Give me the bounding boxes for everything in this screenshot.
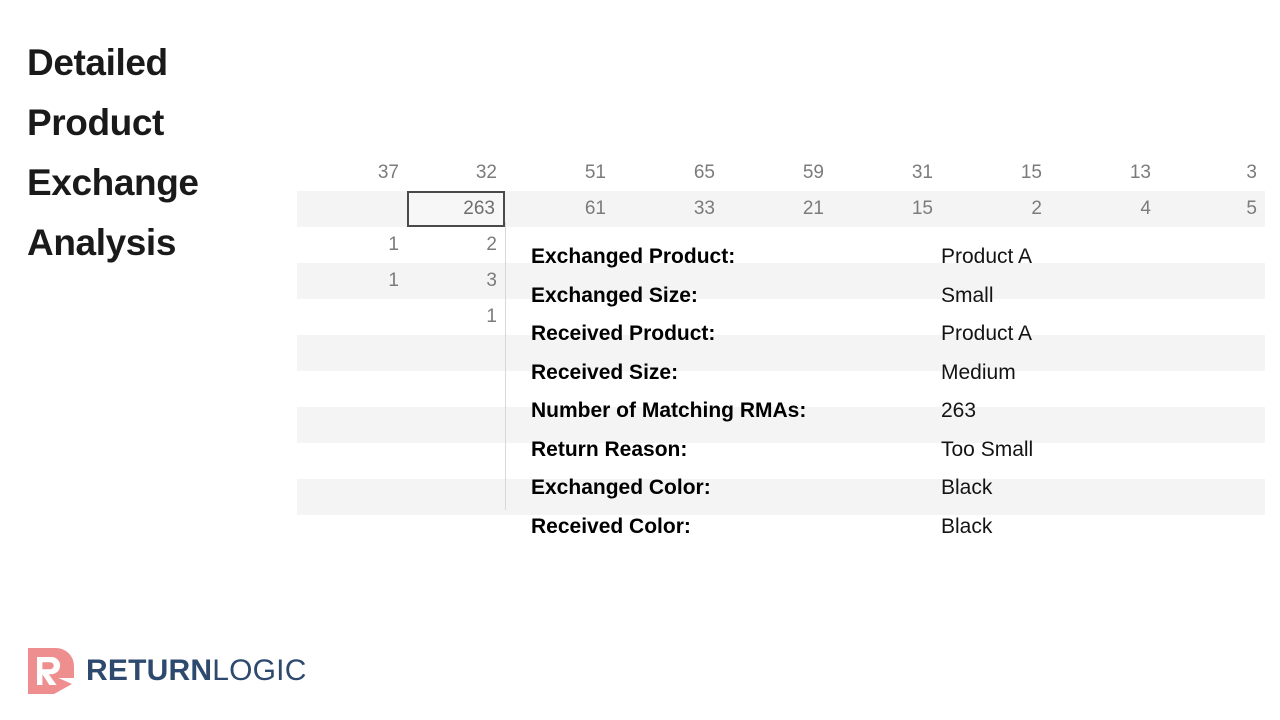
- spreadsheet-cell[interactable]: 1: [407, 299, 505, 335]
- detail-row: Exchanged Size:Small: [531, 277, 1131, 316]
- logo-wordmark-return: RETURN: [86, 654, 212, 687]
- sheet-panel-divider: [505, 222, 506, 510]
- detail-value: Small: [941, 277, 994, 316]
- spreadsheet-row[interactable]: 37325165593115133: [297, 155, 1265, 191]
- logo-wordmark: RETURNLOGIC: [86, 656, 307, 686]
- detail-row: Return Reason:Too Small: [531, 431, 1131, 470]
- spreadsheet-cell[interactable]: 51: [505, 155, 614, 191]
- detail-label: Received Size:: [531, 354, 678, 393]
- detail-label: Exchanged Color:: [531, 469, 711, 508]
- spreadsheet-cell[interactable]: 13: [1050, 155, 1159, 191]
- spreadsheet-cell[interactable]: 2: [407, 227, 505, 263]
- spreadsheet-row[interactable]: 26361332115245: [297, 191, 1265, 227]
- logo-wordmark-logic: LOGIC: [212, 654, 306, 687]
- spreadsheet-cell[interactable]: 32: [407, 155, 505, 191]
- spreadsheet-cell[interactable]: 37: [315, 155, 407, 191]
- spreadsheet-cell[interactable]: 59: [723, 155, 832, 191]
- spreadsheet-cell[interactable]: 65: [614, 155, 723, 191]
- detail-row: Received Product:Product A: [531, 315, 1131, 354]
- detail-row: Exchanged Color:Black: [531, 469, 1131, 508]
- spreadsheet-cell[interactable]: 15: [832, 191, 941, 227]
- page-title: Detailed Product Exchange Analysis: [27, 33, 277, 273]
- detail-value: Medium: [941, 354, 1016, 393]
- detail-value: Product A: [941, 238, 1032, 277]
- returnlogic-r-arrow-icon: [28, 648, 74, 694]
- returnlogic-logo: RETURNLOGIC: [28, 648, 307, 694]
- spreadsheet-cell[interactable]: 3: [1159, 155, 1265, 191]
- spreadsheet-cell[interactable]: 33: [614, 191, 723, 227]
- exchange-detail-panel: Exchanged Product:Product AExchanged Siz…: [531, 238, 1131, 546]
- detail-label: Return Reason:: [531, 431, 687, 470]
- spreadsheet-cell[interactable]: 15: [941, 155, 1050, 191]
- detail-row: Received Size:Medium: [531, 354, 1131, 393]
- spreadsheet-cell[interactable]: 2: [941, 191, 1050, 227]
- detail-row: Exchanged Product:Product A: [531, 238, 1131, 277]
- spreadsheet-cell[interactable]: 31: [832, 155, 941, 191]
- detail-label: Exchanged Size:: [531, 277, 698, 316]
- detail-value: Product A: [941, 315, 1032, 354]
- selected-cell[interactable]: 263: [407, 191, 505, 227]
- spreadsheet-cell[interactable]: 1: [315, 263, 407, 299]
- detail-label: Received Color:: [531, 508, 691, 547]
- spreadsheet-cell[interactable]: 61: [505, 191, 614, 227]
- spreadsheet-cell[interactable]: 3: [407, 263, 505, 299]
- spreadsheet-cell[interactable]: 21: [723, 191, 832, 227]
- detail-label: Number of Matching RMAs:: [531, 392, 806, 431]
- spreadsheet-cell[interactable]: 5: [1159, 191, 1265, 227]
- detail-value: Black: [941, 469, 992, 508]
- detail-row: Number of Matching RMAs:263: [531, 392, 1131, 431]
- detail-value: 263: [941, 392, 976, 431]
- detail-value: Too Small: [941, 431, 1033, 470]
- spreadsheet-cell[interactable]: 4: [1050, 191, 1159, 227]
- detail-label: Received Product:: [531, 315, 715, 354]
- detail-value: Black: [941, 508, 992, 547]
- detail-label: Exchanged Product:: [531, 238, 735, 277]
- detail-row: Received Color:Black: [531, 508, 1131, 547]
- spreadsheet-cell[interactable]: 1: [315, 227, 407, 263]
